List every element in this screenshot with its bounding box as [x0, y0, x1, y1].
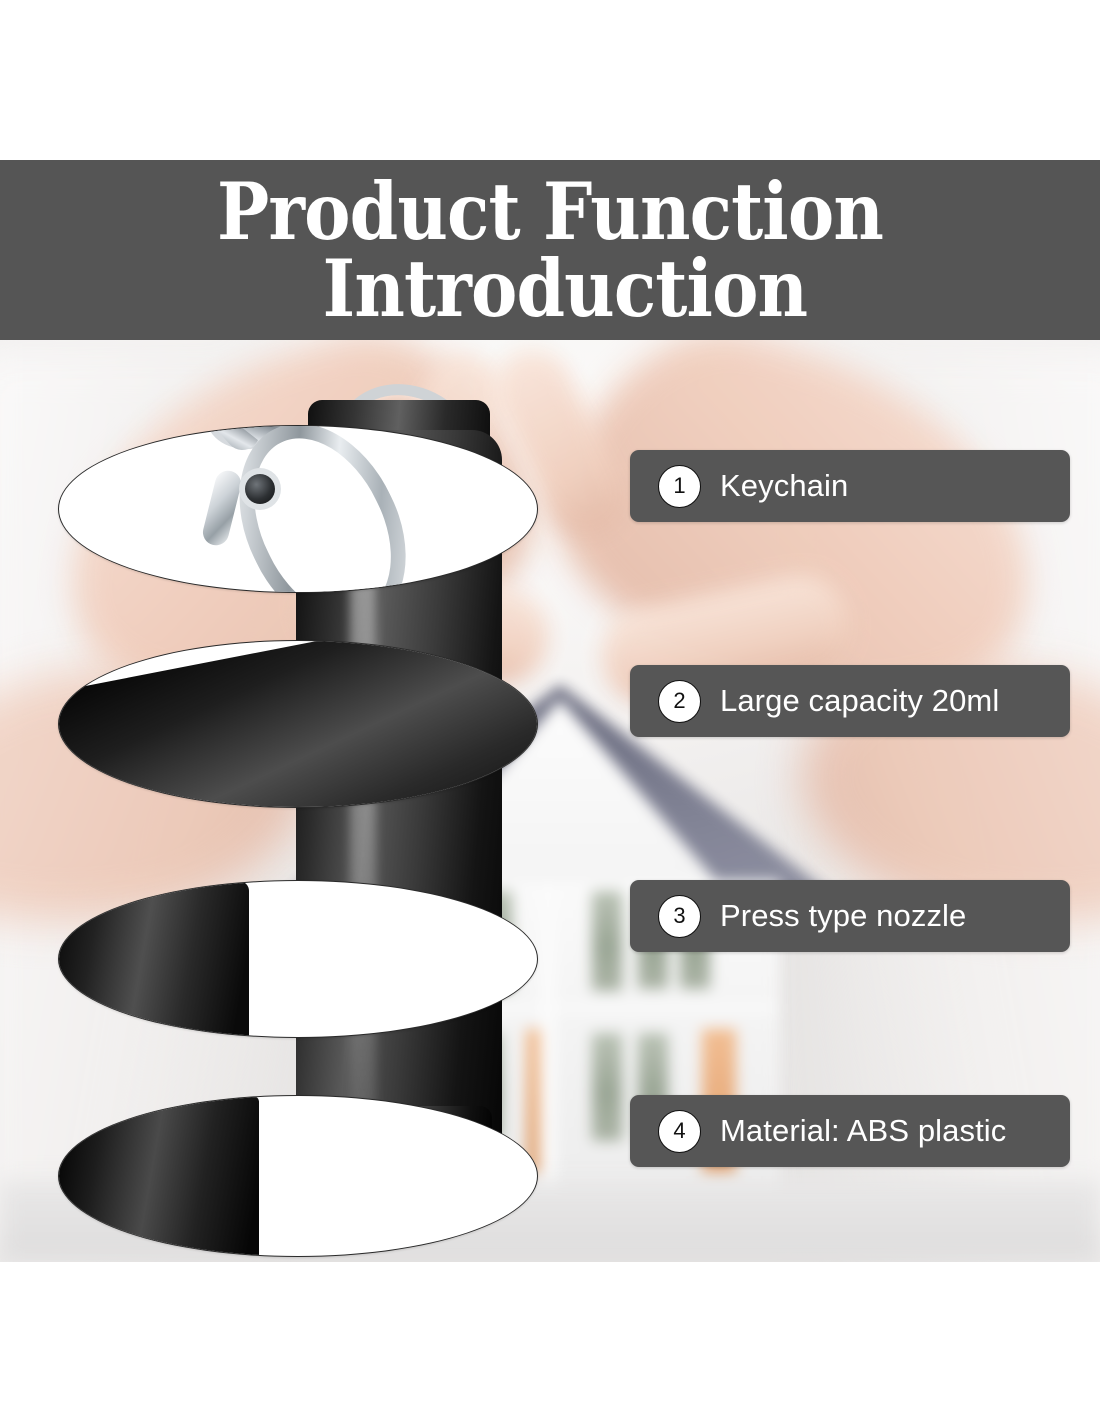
callout-oval-nozzle: [58, 880, 538, 1038]
callout-oval-material: [58, 1095, 538, 1257]
bottle-body-surface: [58, 640, 538, 808]
feature-badge-2: 2: [658, 680, 701, 723]
product-photo: 1 Keychain 2 Large capacity 20ml 3 Press…: [0, 340, 1100, 1262]
bottle-base: [59, 1096, 259, 1257]
feature-badge-4: 4: [658, 1110, 701, 1153]
nozzle-head: [59, 881, 249, 1038]
page-title-line2: Introduction: [293, 250, 807, 327]
feature-label-1: Keychain: [720, 468, 848, 504]
keychain-rivet: [245, 474, 275, 504]
feature-label-2: Large capacity 20ml: [720, 683, 999, 719]
infographic-page: Product Function Introduction: [0, 0, 1100, 1422]
feature-badge-3: 3: [658, 895, 701, 938]
feature-label-3: Press type nozzle: [720, 898, 966, 934]
feature-pill-3[interactable]: 3 Press type nozzle: [630, 880, 1070, 952]
header-band: Product Function Introduction: [0, 160, 1100, 340]
callout-oval-1-content: [59, 426, 537, 592]
page-title: Product Function Introduction: [66, 160, 1034, 340]
keychain-gate: [200, 468, 244, 548]
feature-pill-2[interactable]: 2 Large capacity 20ml: [630, 665, 1070, 737]
feature-label-4: Material: ABS plastic: [720, 1113, 1006, 1149]
page-title-line1: Product Function: [217, 173, 883, 250]
callout-oval-keychain: [58, 425, 538, 593]
callout-oval-capacity: [58, 640, 538, 808]
product-highlight: [350, 550, 376, 1140]
feature-pill-4[interactable]: 4 Material: ABS plastic: [630, 1095, 1070, 1167]
callout-oval-3-content: [59, 881, 537, 1037]
feature-pill-1[interactable]: 1 Keychain: [630, 450, 1070, 522]
feature-badge-1: 1: [658, 465, 701, 508]
callout-oval-2-content: [59, 641, 537, 807]
callout-oval-4-content: [59, 1096, 537, 1256]
